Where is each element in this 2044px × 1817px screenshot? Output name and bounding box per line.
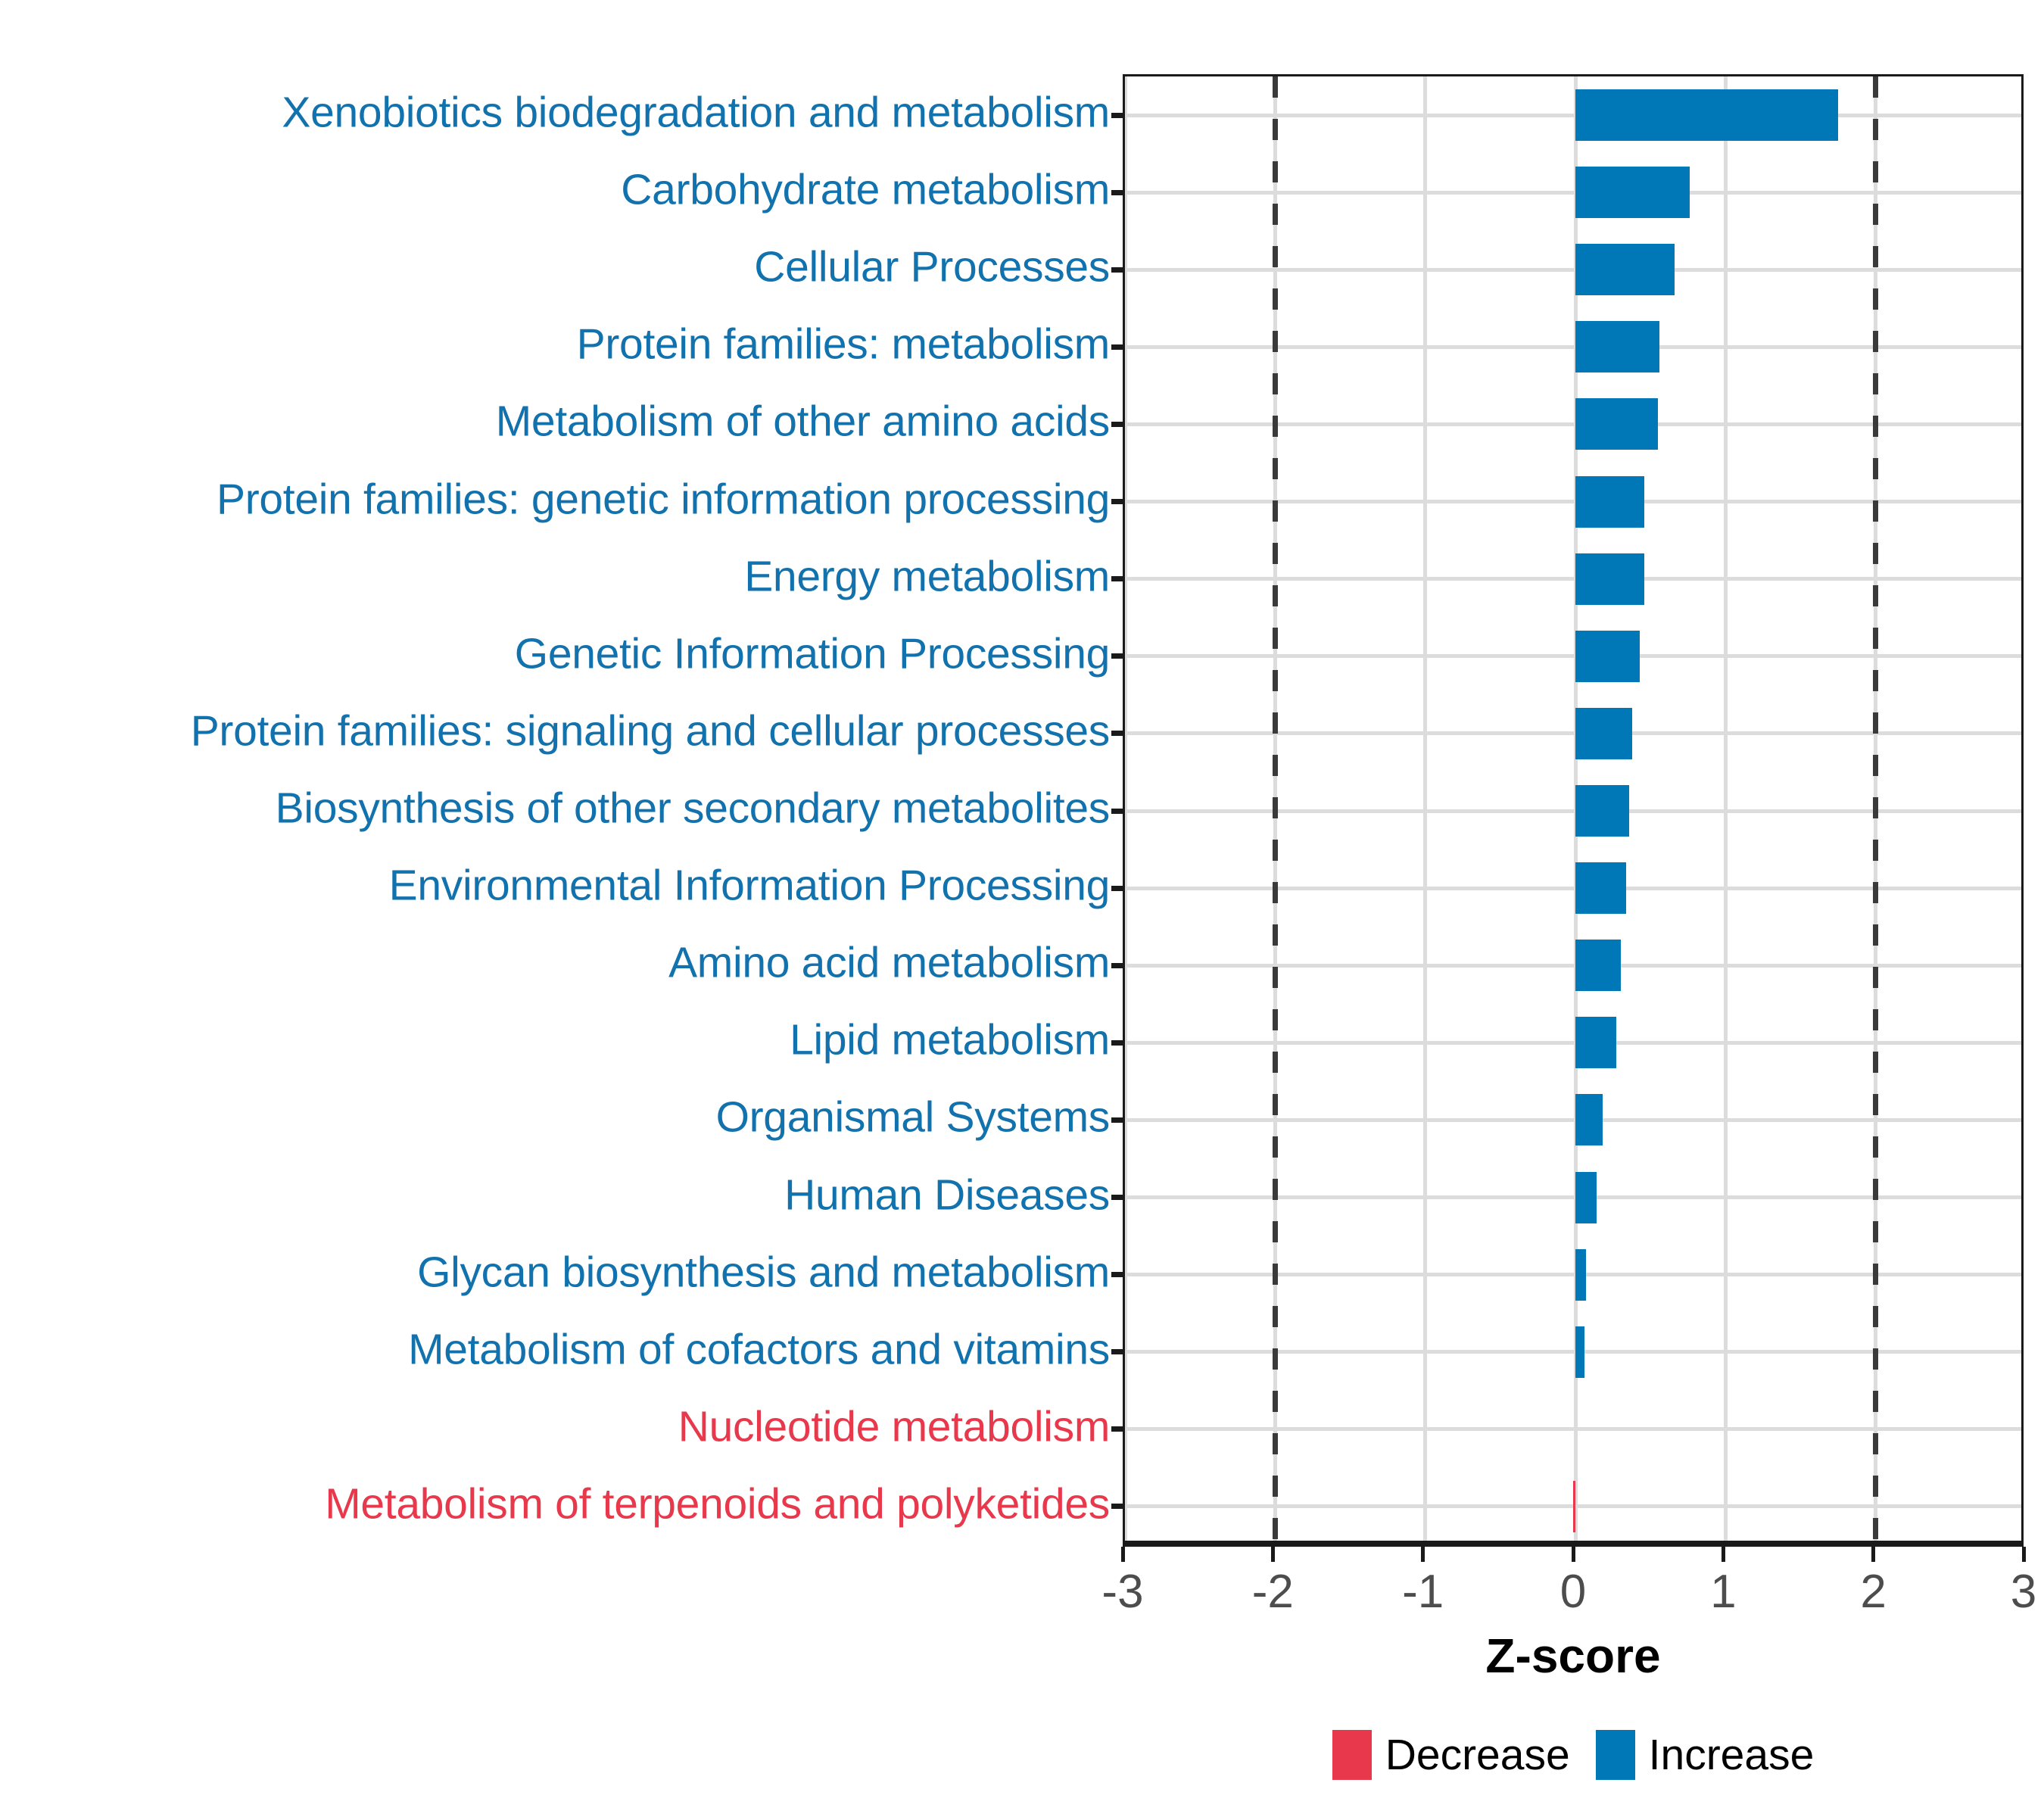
x-axis-title: Z-score xyxy=(1123,1628,2024,1684)
horizontal-gridline xyxy=(1125,422,2021,426)
y-axis-tick xyxy=(1111,963,1125,968)
y-axis-tick xyxy=(1111,499,1125,504)
y-axis-tick xyxy=(1111,809,1125,814)
legend-swatch xyxy=(1332,1730,1372,1780)
bar xyxy=(1575,708,1632,759)
x-axis-tick-label: -1 xyxy=(1348,1566,1499,1619)
horizontal-gridline xyxy=(1125,1350,2021,1354)
y-axis-label: Carbohydrate metabolism xyxy=(0,169,1110,212)
bar xyxy=(1575,1249,1586,1301)
plot-area xyxy=(1125,76,2021,1541)
x-axis-tick-label: 3 xyxy=(1948,1566,2044,1619)
horizontal-gridline xyxy=(1125,500,2021,503)
threshold-line xyxy=(1273,76,1278,1541)
horizontal-gridline xyxy=(1125,114,2021,117)
horizontal-gridline xyxy=(1125,1118,2021,1122)
y-axis-tick xyxy=(1111,1504,1125,1509)
horizontal-gridline xyxy=(1125,964,2021,968)
horizontal-gridline xyxy=(1125,577,2021,581)
y-axis-tick xyxy=(1111,1040,1125,1046)
y-axis-tick xyxy=(1111,422,1125,427)
y-axis-tick xyxy=(1111,1272,1125,1277)
bar xyxy=(1575,1017,1616,1068)
x-axis-tick-label: 2 xyxy=(1798,1566,1949,1619)
bar xyxy=(1575,89,1838,141)
bar xyxy=(1575,398,1658,450)
bar xyxy=(1575,940,1621,991)
legend-label: Decrease xyxy=(1385,1734,1570,1777)
legend-entry: Increase xyxy=(1596,1730,1815,1780)
bar xyxy=(1575,631,1640,682)
horizontal-gridline xyxy=(1125,1427,2021,1431)
bar xyxy=(1575,1094,1603,1145)
horizontal-gridline xyxy=(1125,731,2021,735)
y-axis-label: Xenobiotics biodegradation and metabolis… xyxy=(0,92,1110,135)
x-axis-tick xyxy=(2022,1547,2026,1562)
bar xyxy=(1575,553,1644,605)
bar xyxy=(1575,1326,1584,1378)
horizontal-gridline xyxy=(1125,1041,2021,1045)
x-axis-tick-label: 1 xyxy=(1647,1566,1799,1619)
y-axis-label: Protein families: signaling and cellular… xyxy=(0,709,1110,753)
y-axis-label: Biosynthesis of other secondary metaboli… xyxy=(0,787,1110,831)
x-axis-tick xyxy=(1722,1547,1725,1562)
y-axis-label: Metabolism of cofactors and vitamins xyxy=(0,1328,1110,1371)
horizontal-gridline xyxy=(1125,345,2021,349)
y-axis-labels: Xenobiotics biodegradation and metabolis… xyxy=(0,74,1110,1543)
horizontal-gridline xyxy=(1125,1195,2021,1199)
y-axis-tick xyxy=(1111,1426,1125,1432)
horizontal-gridline xyxy=(1125,1273,2021,1276)
y-axis-tick xyxy=(1111,1117,1125,1123)
y-axis-label: Lipid metabolism xyxy=(0,1019,1110,1062)
y-axis-tick xyxy=(1111,576,1125,581)
y-axis-label: Protein families: genetic information pr… xyxy=(0,478,1110,521)
bar xyxy=(1575,244,1675,295)
y-axis-label: Amino acid metabolism xyxy=(0,942,1110,985)
horizontal-gridline xyxy=(1125,191,2021,195)
y-axis-label: Glycan biosynthesis and metabolism xyxy=(0,1251,1110,1294)
y-axis-label: Cellular Processes xyxy=(0,246,1110,289)
bar xyxy=(1575,167,1690,218)
y-axis-tick xyxy=(1111,1349,1125,1354)
y-axis-tick xyxy=(1111,731,1125,736)
horizontal-gridline xyxy=(1125,809,2021,813)
y-axis-label: Energy metabolism xyxy=(0,555,1110,598)
bar xyxy=(1575,862,1626,914)
x-axis-tick xyxy=(1121,1547,1125,1562)
legend-label: Increase xyxy=(1649,1734,1815,1777)
y-axis-tick xyxy=(1111,267,1125,273)
y-axis-label: Metabolism of terpenoids and polyketides xyxy=(0,1482,1110,1526)
bar xyxy=(1575,1172,1597,1223)
legend-entry: Decrease xyxy=(1332,1730,1570,1780)
y-axis-label: Environmental Information Processing xyxy=(0,865,1110,908)
x-axis-tick-label: 0 xyxy=(1497,1566,1649,1619)
y-axis-label: Nucleotide metabolism xyxy=(0,1405,1110,1448)
plot-panel xyxy=(1123,74,2024,1543)
bar xyxy=(1575,785,1629,837)
x-axis-tick xyxy=(1271,1547,1275,1562)
y-axis-label: Genetic Information Processing xyxy=(0,632,1110,675)
horizontal-gridline xyxy=(1125,654,2021,658)
chart-legend: DecreaseIncrease xyxy=(1123,1730,2024,1780)
y-axis-tick xyxy=(1111,190,1125,195)
y-axis-tick xyxy=(1111,113,1125,118)
y-axis-label: Metabolism of other amino acids xyxy=(0,400,1110,444)
x-axis-tick xyxy=(1421,1547,1425,1562)
horizontal-gridline xyxy=(1125,887,2021,890)
y-axis-tick xyxy=(1111,344,1125,350)
x-axis-tick-label: -2 xyxy=(1197,1566,1348,1619)
x-axis-tick-label: -3 xyxy=(1047,1566,1198,1619)
y-axis-tick xyxy=(1111,886,1125,891)
y-axis-tick xyxy=(1111,1195,1125,1200)
bar xyxy=(1573,1481,1575,1532)
y-axis-label: Human Diseases xyxy=(0,1173,1110,1217)
chart-figure: Xenobiotics biodegradation and metabolis… xyxy=(0,0,2044,1817)
y-axis-label: Protein families: metabolism xyxy=(0,323,1110,366)
horizontal-gridline xyxy=(1125,268,2021,272)
bar xyxy=(1575,476,1644,528)
threshold-line xyxy=(1873,76,1878,1541)
bar xyxy=(1575,321,1659,372)
legend-swatch xyxy=(1596,1730,1635,1780)
x-axis-tick xyxy=(1572,1547,1575,1562)
y-axis-tick xyxy=(1111,653,1125,659)
x-axis-tick xyxy=(1871,1547,1875,1562)
y-axis-label: Organismal Systems xyxy=(0,1096,1110,1139)
